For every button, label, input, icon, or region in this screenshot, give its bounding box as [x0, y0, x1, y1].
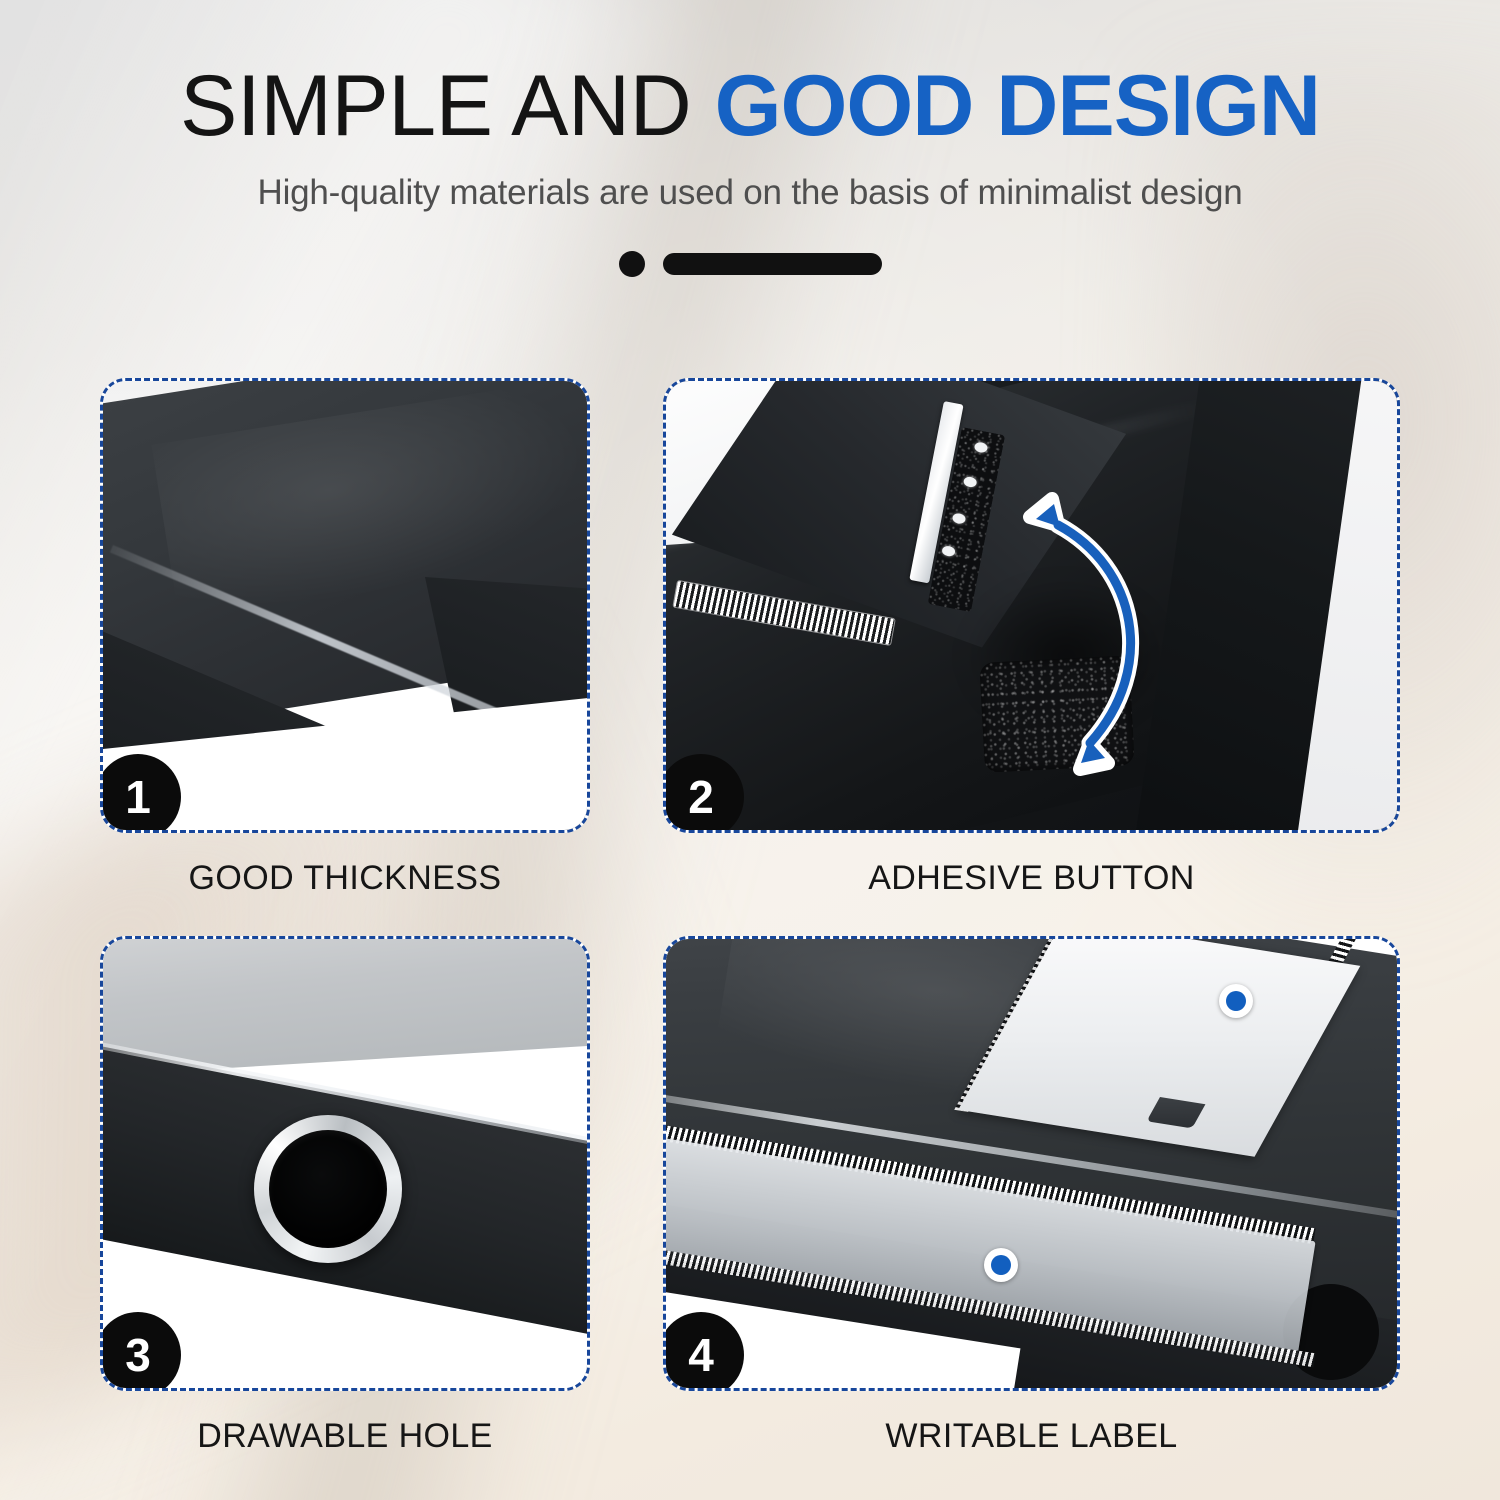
panel-row-bottom: 3 DRAWABLE HOLE: [100, 936, 1400, 1456]
strip-hole-icon: [952, 512, 967, 524]
feature-panel-3: 3 DRAWABLE HOLE: [100, 936, 590, 1456]
panel-2-photo: [666, 381, 1397, 830]
blue-dot-marker-top-label: [1219, 984, 1253, 1018]
blue-dot-marker-front-label: [984, 1248, 1018, 1282]
page-title: SIMPLE AND GOOD DESIGN: [0, 62, 1500, 151]
panel-1-photo: [103, 381, 587, 830]
panel-1-caption: GOOD THICKNESS: [100, 859, 590, 898]
panel-4-photo-frame: 4: [663, 936, 1400, 1391]
panel-4-caption: WRITABLE LABEL: [663, 1417, 1400, 1456]
feature-panel-grid: 1 GOOD THICKNESS: [100, 378, 1400, 1494]
divider: [0, 251, 1500, 277]
panel-3-caption: DRAWABLE HOLE: [100, 1417, 590, 1456]
strip-hole-icon: [941, 545, 956, 557]
page-subtitle: High-quality materials are used on the b…: [0, 173, 1500, 213]
page-title-plain: SIMPLE AND: [180, 58, 715, 154]
curved-double-arrow-icon: [1006, 491, 1196, 781]
finger-hole-opening: [269, 1130, 387, 1248]
panel-4-photo: [666, 939, 1397, 1388]
feature-panel-2: 2 ADHESIVE BUTTON: [663, 378, 1400, 898]
divider-bar-icon: [663, 253, 882, 275]
panel-3-photo-frame: 3: [100, 936, 590, 1391]
panel-row-top: 1 GOOD THICKNESS: [100, 378, 1400, 898]
panel-2-caption: ADHESIVE BUTTON: [663, 859, 1400, 898]
page-title-accent: GOOD DESIGN: [715, 58, 1320, 154]
panel-2-photo-frame: 2: [663, 378, 1400, 833]
divider-dot-icon: [619, 251, 645, 277]
panel-1-photo-frame: 1: [100, 378, 590, 833]
feature-panel-4: 4 WRITABLE LABEL: [663, 936, 1400, 1456]
header: SIMPLE AND GOOD DESIGN High-quality mate…: [0, 0, 1500, 277]
panel-3-photo: [103, 939, 587, 1388]
feature-panel-1: 1 GOOD THICKNESS: [100, 378, 590, 898]
